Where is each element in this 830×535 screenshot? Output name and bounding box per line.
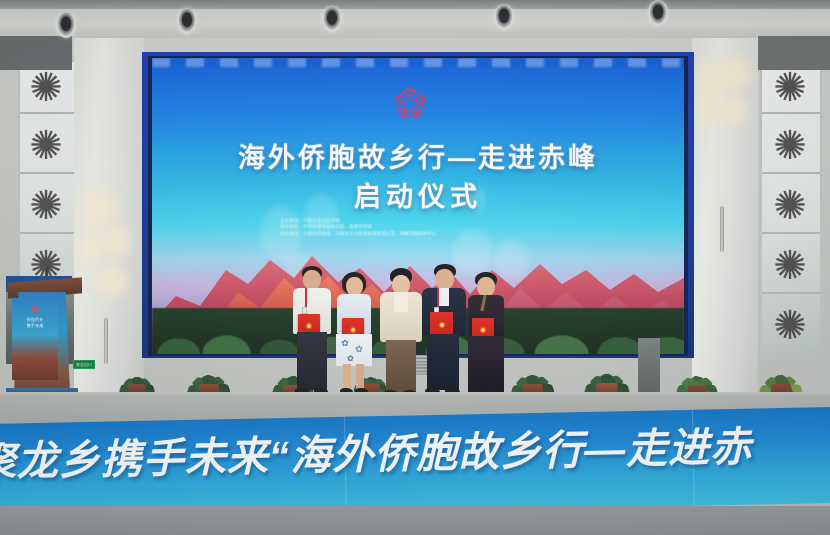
- name-badge: [302, 307, 307, 314]
- event-stage-photograph: ✺ ✺ ✺ ✺ ✺ ✺ ✺ ✺ ✺ ✺: [0, 0, 830, 535]
- dress-shirt: [438, 288, 449, 306]
- bottom-blue-banner: 聚龙乡携手未来“海外侨胞故乡行—走进赤: [0, 407, 830, 520]
- person-5-woman-dark-dress: [462, 272, 510, 400]
- podium-panel-text: 侨连侨乡 携手未来: [12, 317, 58, 329]
- head: [303, 270, 321, 290]
- podium-emblem-icon: [31, 305, 39, 313]
- head: [477, 277, 495, 297]
- podium-graphic-panel: 侨连侨乡 携手未来: [12, 298, 58, 380]
- jacket-collar: [394, 292, 408, 312]
- speaking-podium: 海外侨胞故乡行—走进赤峰 侨连侨乡 携手未来: [2, 280, 86, 402]
- podium-panel-line2: 携手未来: [12, 323, 58, 329]
- lanyard: [437, 288, 439, 308]
- foreground-floor: [0, 506, 830, 535]
- lanyard: [305, 288, 307, 308]
- floral-pattern-icon: ✿: [346, 354, 355, 363]
- long-dark-skirt: [468, 336, 504, 392]
- legs-bare: [343, 364, 351, 390]
- floral-pattern-icon: ✿: [340, 338, 350, 348]
- legs-dark-trousers: [427, 334, 459, 390]
- banner-headline: 聚龙乡携手未来“海外侨胞故乡行—走进赤: [0, 413, 753, 489]
- person-2-woman-floral-dress: ✿ ✿ ✿: [330, 272, 378, 400]
- floral-pattern-icon: ✿: [354, 344, 364, 354]
- person-1-man-white-shirt: [288, 266, 336, 398]
- legs-dark-trousers: [297, 332, 327, 390]
- legs-brown-trousers: [386, 340, 416, 392]
- legs-bare: [356, 364, 364, 390]
- head: [435, 269, 454, 290]
